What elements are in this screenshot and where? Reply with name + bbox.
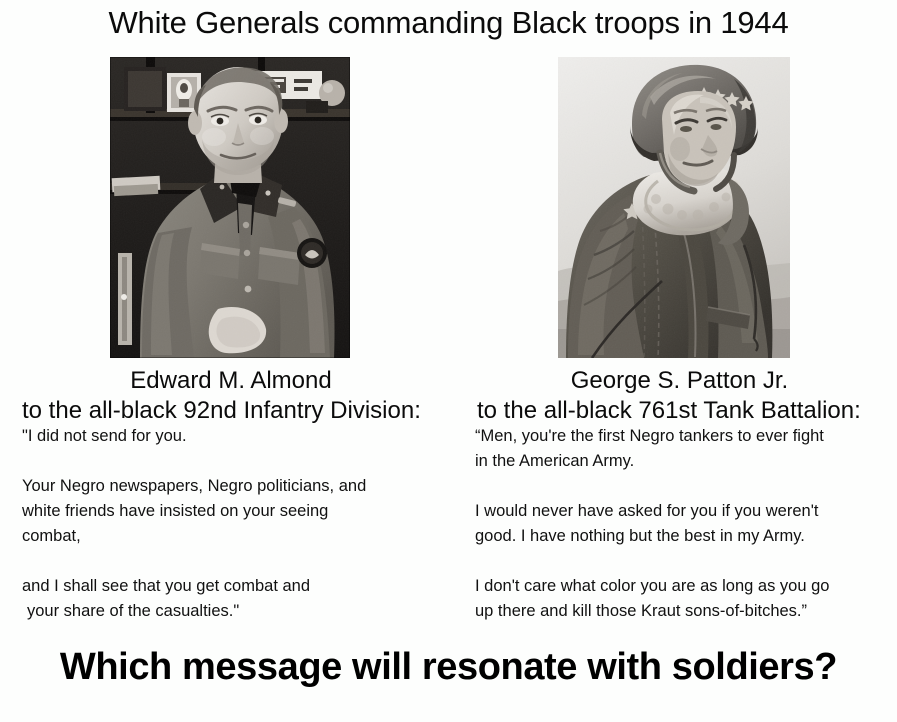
quote-line: good. I have nothing but the best in my … [475,524,893,549]
quote-line: combat, [22,524,442,549]
quote-line: Your Negro newspapers, Negro politicians… [22,474,442,499]
quote-line: “Men, you're the first Negro tankers to … [475,424,893,449]
quote-line: I don't care what color you are as long … [475,574,893,599]
quote-block-patton: “Men, you're the first Negro tankers to … [475,424,893,624]
quote-line: white friends have insisted on your seei… [22,499,442,524]
quote-spacer [22,549,442,574]
caption-unit-left: to the all-black 92nd Infantry Division: [22,396,421,426]
photo-george-patton [558,57,790,358]
quote-spacer [475,549,893,574]
quote-line: in the American Army. [475,449,893,474]
quote-line: your share of the casualties." [22,599,442,624]
quote-spacer [22,449,442,474]
quote-block-almond: "I did not send for you. Your Negro news… [22,424,442,624]
caption-name-left: Edward M. Almond [0,366,462,396]
meme-page: White Generals commanding Black troops i… [0,0,897,722]
page-title: White Generals commanding Black troops i… [0,2,897,44]
caption-name-right: George S. Patton Jr. [462,366,897,396]
quote-line: "I did not send for you. [22,424,442,449]
closing-question: Which message will resonate with soldier… [0,641,897,693]
photo-edward-almond [110,57,350,358]
quote-line: I would never have asked for you if you … [475,499,893,524]
quote-line: and I shall see that you get combat and [22,574,442,599]
caption-unit-right: to the all-black 761st Tank Battalion: [477,396,861,426]
quote-spacer [475,474,893,499]
quote-line: up there and kill those Kraut sons-of-bi… [475,599,893,624]
